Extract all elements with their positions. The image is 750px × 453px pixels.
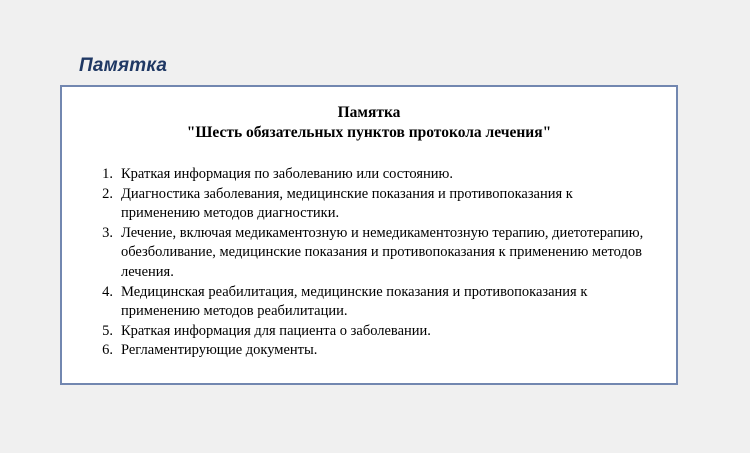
list-item-number: 3. [88,224,113,244]
list-item-number: 6. [88,341,113,361]
list-item: 5. Краткая информация для пациента о заб… [88,322,650,342]
list-item: 2. Диагностика заболевания, медицинские … [88,185,650,224]
list-item-number: 2. [88,185,113,205]
list-item: 6. Регламентирующие документы. [88,341,650,361]
list-item-text: Краткая информация для пациента о заболе… [121,322,650,342]
list-item: 1. Краткая информация по заболеванию или… [88,165,650,185]
list-item-number: 4. [88,283,113,303]
list-item-text: Краткая информация по заболеванию или со… [121,165,650,185]
page-title: Памятка [79,55,167,77]
list-item: 3. Лечение, включая медикаментозную и не… [88,224,650,283]
list-item-text: Диагностика заболевания, медицинские пок… [121,185,650,224]
heading-line-1: Памятка [88,103,650,123]
content-box-inner: Памятка "Шесть обязательных пунктов прот… [62,87,676,383]
protocol-points-list: 1. Краткая информация по заболеванию или… [88,165,650,361]
document-heading: Памятка "Шесть обязательных пунктов прот… [88,103,650,143]
list-item: 4. Медицинская реабилитация, медицинские… [88,283,650,322]
list-item-text: Лечение, включая медикаментозную и немед… [121,224,650,283]
slide: Памятка Памятка "Шесть обязательных пунк… [0,0,750,453]
list-item-text: Медицинская реабилитация, медицинские по… [121,283,650,322]
content-box: Памятка "Шесть обязательных пунктов прот… [60,85,678,385]
list-item-number: 1. [88,165,113,185]
list-item-number: 5. [88,322,113,342]
list-item-text: Регламентирующие документы. [121,341,650,361]
heading-line-2: "Шесть обязательных пунктов протокола ле… [88,123,650,143]
